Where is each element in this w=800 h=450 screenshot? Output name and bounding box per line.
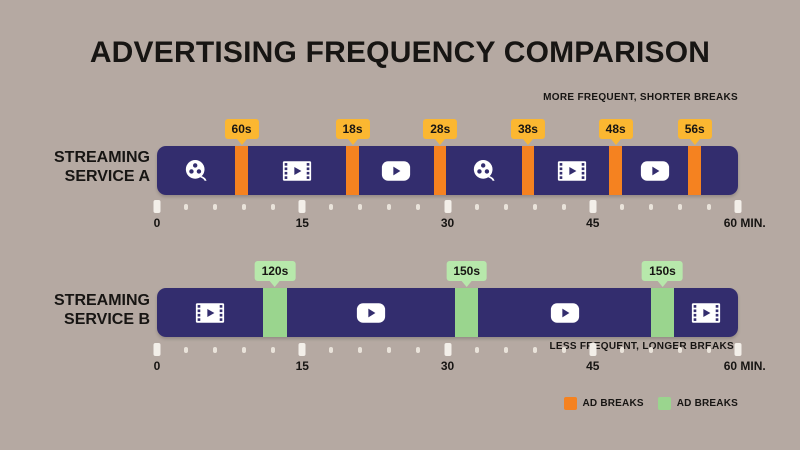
ad-break-duration-callout: 18s: [335, 119, 369, 139]
play-icon: [356, 300, 386, 326]
axis-tick-major: [444, 343, 451, 356]
axis-tick-minor: [271, 204, 275, 210]
axis-tick-label: 30: [441, 216, 454, 230]
row-label-line1: STREAMING: [54, 149, 150, 166]
axis-tick-label: 30: [441, 359, 454, 373]
row-label-line2: SERVICE B: [20, 310, 150, 329]
content-segment: [701, 146, 738, 195]
axis-tick-major: [735, 200, 742, 213]
axis-tick-minor: [649, 347, 653, 353]
axis-tick-label: 15: [296, 216, 309, 230]
ad-break-marker[interactable]: [522, 146, 534, 195]
axis-tick-minor: [678, 204, 682, 210]
ad-break-marker[interactable]: [434, 146, 446, 195]
legend-label-orange: AD BREAKS: [583, 398, 644, 409]
film-play-icon: [195, 300, 225, 326]
ad-break-duration-callout: 28s: [423, 119, 457, 139]
infographic-canvas: ADVERTISING FREQUENCY COMPARISON MORE FR…: [0, 0, 800, 450]
axis-tick-major: [589, 200, 596, 213]
film-play-icon: [691, 300, 721, 326]
axis-tick-minor: [329, 347, 333, 353]
axis-tick-minor: [329, 204, 333, 210]
ad-break-duration-callout: 48s: [599, 119, 633, 139]
play-icon: [550, 300, 580, 326]
axis-tick-label: 0: [154, 216, 161, 230]
axis-tick-minor: [416, 204, 420, 210]
axis-tick-label: 45: [586, 359, 599, 373]
play-icon: [381, 158, 411, 184]
content-segment: [287, 288, 455, 337]
axis-tick-minor: [387, 204, 391, 210]
axis-tick-minor: [184, 347, 188, 353]
content-segment: [157, 146, 235, 195]
ad-break-marker[interactable]: [235, 146, 247, 195]
axis-tick-major: [589, 343, 596, 356]
row-label-service-b: STREAMING SERVICE B: [20, 291, 150, 329]
axis-tick-major: [299, 343, 306, 356]
film-play-icon: [557, 158, 587, 184]
axis-tick-minor: [416, 347, 420, 353]
legend-label-green: AD BREAKS: [677, 398, 738, 409]
legend: AD BREAKS AD BREAKS: [564, 397, 739, 410]
axis-tick-minor: [184, 204, 188, 210]
content-segment: [622, 146, 689, 195]
film-reel-icon: [471, 158, 497, 184]
content-segment: [446, 146, 522, 195]
note-service-a: MORE FREQUENT, SHORTER BREAKS: [543, 92, 738, 103]
axis-tick-major: [735, 343, 742, 356]
axis-tick-minor: [271, 347, 275, 353]
play-icon: [640, 158, 670, 184]
film-reel-icon: [183, 158, 209, 184]
ad-break-marker[interactable]: [651, 288, 674, 337]
axis-tick-minor: [562, 204, 566, 210]
ad-break-duration-callout: 56s: [678, 119, 712, 139]
ad-break-marker[interactable]: [263, 288, 286, 337]
axis-tick-minor: [475, 204, 479, 210]
time-axis-service-b: 015304560 MIN.: [157, 343, 738, 373]
timeline-bar-service-b[interactable]: [157, 288, 738, 337]
page-title: ADVERTISING FREQUENCY COMPARISON: [0, 36, 800, 70]
content-segment: [157, 288, 263, 337]
row-label-line1: STREAMING: [54, 292, 150, 309]
axis-tick-major: [154, 200, 161, 213]
axis-tick-minor: [707, 204, 711, 210]
ad-break-duration-callout: 60s: [225, 119, 259, 139]
axis-tick-minor: [562, 347, 566, 353]
ad-break-marker[interactable]: [688, 146, 700, 195]
axis-tick-label: 60 MIN.: [724, 216, 766, 230]
axis-tick-label: 15: [296, 359, 309, 373]
axis-tick-major: [154, 343, 161, 356]
axis-tick-minor: [504, 347, 508, 353]
legend-item-orange: AD BREAKS: [564, 397, 644, 410]
content-segment: [674, 288, 738, 337]
legend-swatch-green: [658, 397, 671, 410]
axis-tick-minor: [504, 204, 508, 210]
axis-tick-label: 0: [154, 359, 161, 373]
content-segment: [359, 146, 435, 195]
axis-tick-label: 45: [586, 216, 599, 230]
ad-break-duration-callout: 120s: [255, 261, 296, 281]
time-axis-service-a: 015304560 MIN.: [157, 200, 738, 230]
content-segment: [478, 288, 651, 337]
axis-tick-major: [299, 200, 306, 213]
timeline-bar-service-a[interactable]: [157, 146, 738, 195]
axis-tick-minor: [620, 347, 624, 353]
ad-break-marker[interactable]: [455, 288, 478, 337]
axis-tick-label: 60 MIN.: [724, 359, 766, 373]
axis-tick-minor: [533, 204, 537, 210]
axis-tick-major: [444, 200, 451, 213]
content-segment: [248, 146, 347, 195]
axis-tick-minor: [358, 347, 362, 353]
axis-tick-minor: [475, 347, 479, 353]
row-label-service-a: STREAMING SERVICE A: [20, 148, 150, 186]
axis-tick-minor: [707, 347, 711, 353]
axis-tick-minor: [387, 347, 391, 353]
film-play-icon: [282, 158, 312, 184]
ad-break-duration-callout: 150s: [642, 261, 683, 281]
legend-item-green: AD BREAKS: [658, 397, 738, 410]
axis-tick-minor: [242, 204, 246, 210]
content-segment: [534, 146, 610, 195]
ad-break-duration-callout: 150s: [446, 261, 487, 281]
ad-break-marker[interactable]: [346, 146, 358, 195]
axis-tick-minor: [533, 347, 537, 353]
axis-tick-minor: [242, 347, 246, 353]
legend-swatch-orange: [564, 397, 577, 410]
row-label-line2: SERVICE A: [20, 167, 150, 186]
axis-tick-minor: [358, 204, 362, 210]
axis-tick-minor: [213, 347, 217, 353]
axis-tick-minor: [213, 204, 217, 210]
ad-break-marker[interactable]: [609, 146, 621, 195]
axis-tick-minor: [620, 204, 624, 210]
ad-break-duration-callout: 38s: [511, 119, 545, 139]
axis-tick-minor: [649, 204, 653, 210]
axis-tick-minor: [678, 347, 682, 353]
